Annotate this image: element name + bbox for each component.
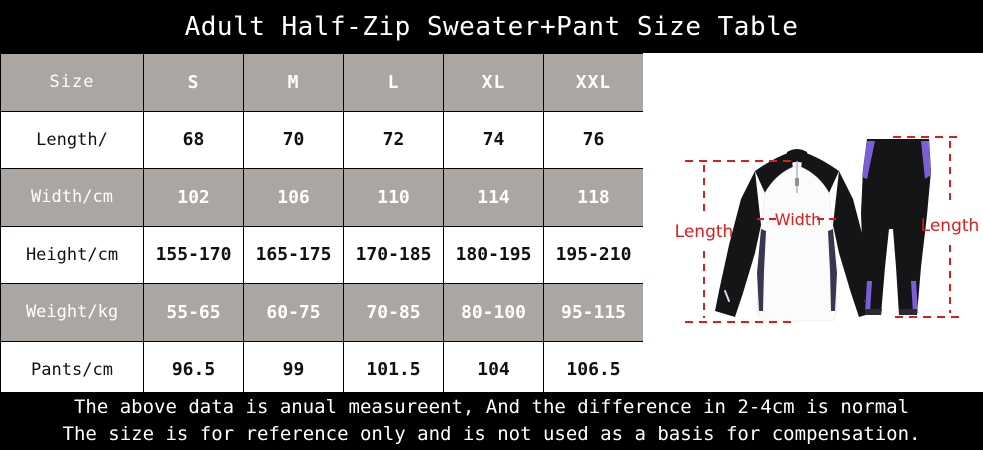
- cell-weight-xl: 80-100: [444, 284, 544, 342]
- cell-width-xxl: 118: [544, 169, 644, 227]
- title-bar: Adult Half-Zip Sweater+Pant Size Table: [0, 0, 983, 53]
- pants-length-label: Length: [921, 216, 980, 236]
- table-header-row: Size S M L XL XXL: [1, 54, 644, 112]
- cell-pants-xl: 104: [444, 341, 544, 399]
- footer-line-1: The above data is anual measureent, And …: [74, 394, 909, 421]
- table-header-size: Size: [1, 54, 144, 112]
- cell-weight-m: 60-75: [244, 284, 344, 342]
- size-table: Size S M L XL XXL Length/ 68 70 72 74 76…: [0, 53, 644, 399]
- table-header-s: S: [144, 54, 244, 112]
- cell-length-xxl: 76: [544, 111, 644, 169]
- table-row: Length/ 68 70 72 74 76: [1, 111, 644, 169]
- cell-weight-xxl: 95-115: [544, 284, 644, 342]
- cell-length-s: 68: [144, 111, 244, 169]
- sweater-length-label: Length: [675, 222, 734, 242]
- cell-pants-xxl: 106.5: [544, 341, 644, 399]
- row-label-pants: Pants/cm: [1, 341, 144, 399]
- footer-line-2: The size is for reference only and is no…: [63, 421, 921, 448]
- cell-width-xl: 114: [444, 169, 544, 227]
- product-illustration: Length Width: [643, 53, 983, 392]
- product-diagram-svg: Length Width: [643, 53, 983, 392]
- cell-width-m: 106: [244, 169, 344, 227]
- row-label-height: Height/cm: [1, 226, 144, 284]
- table-header-xxl: XXL: [544, 54, 644, 112]
- cell-weight-s: 55-65: [144, 284, 244, 342]
- row-label-width: Width/cm: [1, 169, 144, 227]
- sweater-zip-pull-icon: [795, 178, 799, 186]
- cell-pants-m: 99: [244, 341, 344, 399]
- table-header-l: L: [344, 54, 444, 112]
- cell-length-l: 72: [344, 111, 444, 169]
- cell-length-m: 70: [244, 111, 344, 169]
- cell-height-s: 155-170: [144, 226, 244, 284]
- cell-height-l: 170-185: [344, 226, 444, 284]
- table-header-xl: XL: [444, 54, 544, 112]
- table-header-m: M: [244, 54, 344, 112]
- cell-pants-l: 101.5: [344, 341, 444, 399]
- table-row: Weight/kg 55-65 60-75 70-85 80-100 95-11…: [1, 284, 644, 342]
- row-label-weight: Weight/kg: [1, 284, 144, 342]
- pants-right-cuff: [899, 309, 917, 315]
- cell-length-xl: 74: [444, 111, 544, 169]
- cell-width-s: 102: [144, 169, 244, 227]
- table-row: Height/cm 155-170 165-175 170-185 180-19…: [1, 226, 644, 284]
- cell-width-l: 110: [344, 169, 444, 227]
- cell-weight-l: 70-85: [344, 284, 444, 342]
- cell-height-xl: 180-195: [444, 226, 544, 284]
- table-row: Width/cm 102 106 110 114 118: [1, 169, 644, 227]
- footer-note: The above data is anual measureent, And …: [0, 392, 983, 450]
- cell-pants-s: 96.5: [144, 341, 244, 399]
- table-row: Pants/cm 96.5 99 101.5 104 106.5: [1, 341, 644, 399]
- row-label-length: Length/: [1, 111, 144, 169]
- sweater-width-label: Width: [775, 210, 821, 229]
- size-chart-page: Adult Half-Zip Sweater+Pant Size Table S…: [0, 0, 983, 450]
- cell-height-m: 165-175: [244, 226, 344, 284]
- pants-left-cuff: [865, 309, 882, 315]
- content-region: Size S M L XL XXL Length/ 68 70 72 74 76…: [0, 53, 983, 392]
- cell-height-xxl: 195-210: [544, 226, 644, 284]
- page-title: Adult Half-Zip Sweater+Pant Size Table: [185, 12, 799, 42]
